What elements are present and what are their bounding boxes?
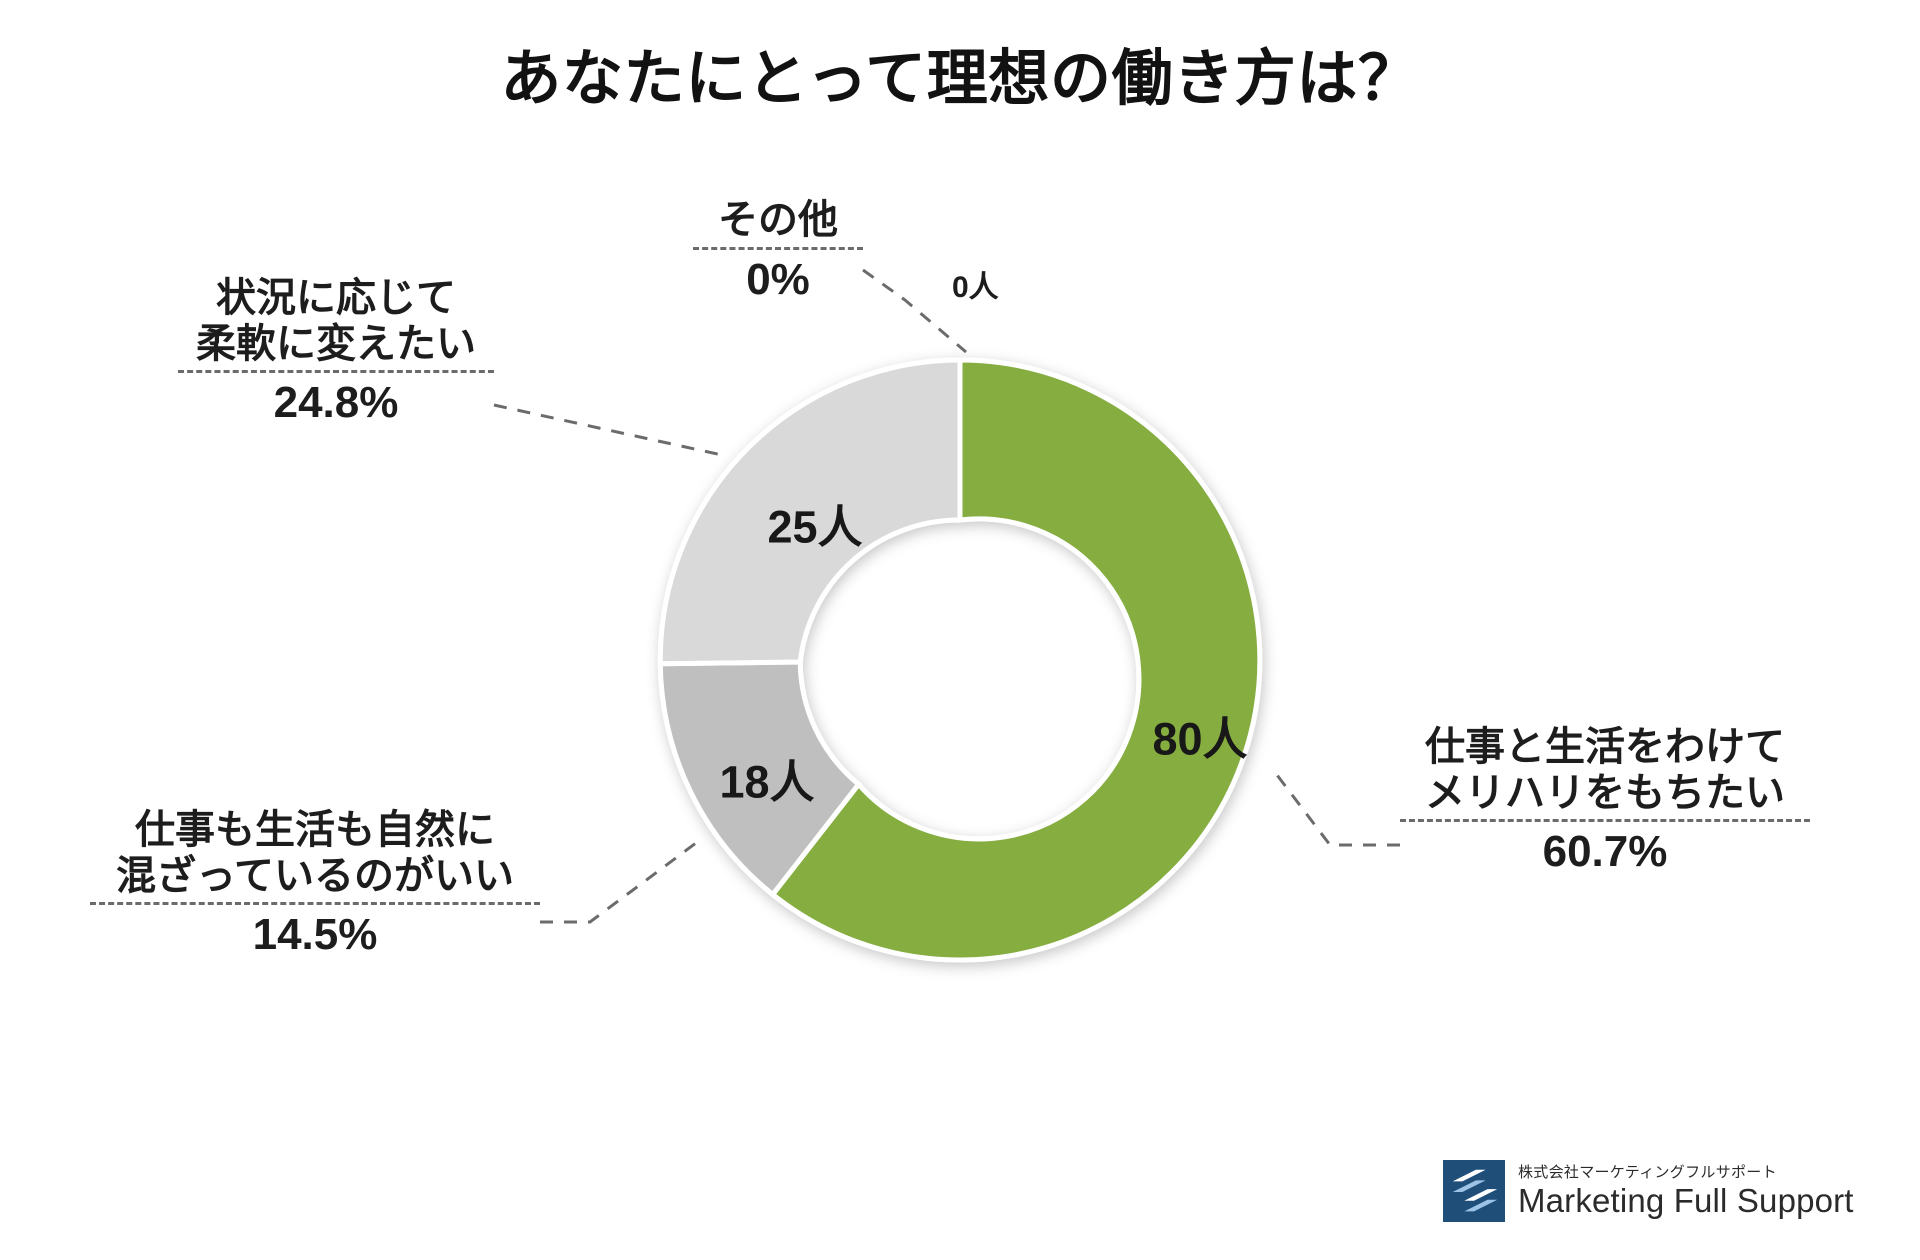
callout-flexible-label-line1: 状況に応じて [178, 276, 494, 322]
logo-text-block: 株式会社マーケティングフルサポート Marketing Full Support [1518, 1165, 1854, 1218]
leader-separated [1277, 775, 1400, 845]
callout-mixed-label-line2: 混ざっているのがいい [90, 854, 540, 900]
callout-flexible: 状況に応じて 柔軟に変えたい 24.8% [178, 276, 494, 429]
callout-other-count: 0人 [952, 262, 999, 306]
callout-mixed: 仕事も生活も自然に 混ざっているのがいい 14.5% [90, 808, 540, 961]
callout-other: その他 0% [693, 198, 863, 306]
slice-value-flexible: 25人 [767, 491, 862, 556]
page-title: あなたにとって理想の働き方は？ [0, 28, 1920, 117]
callout-other-label: その他 [693, 198, 863, 244]
callout-flexible-percent: 24.8% [178, 373, 494, 429]
donut-chart-svg [640, 340, 1280, 980]
slice-value-separated: 80人 [1152, 703, 1247, 768]
callout-mixed-label-line1: 仕事も生活も自然に [90, 808, 540, 854]
callout-other-percent: 0% [693, 250, 863, 306]
callout-separated-label-line1: 仕事と生活をわけて [1400, 725, 1810, 771]
callout-flexible-label-line2: 柔軟に変えたい [178, 322, 494, 368]
callout-separated: 仕事と生活をわけて メリハリをもちたい 60.7% [1400, 725, 1810, 878]
callout-separated-label-line2: メリハリをもちたい [1400, 771, 1810, 817]
company-logo: 株式会社マーケティングフルサポート Marketing Full Support [1443, 1160, 1854, 1222]
callout-mixed-percent: 14.5% [90, 905, 540, 961]
marketing-full-support-logo-icon [1443, 1160, 1505, 1222]
slice-value-mixed: 18人 [719, 746, 814, 811]
donut-chart [640, 340, 1280, 980]
logo-company-name-en: Marketing Full Support [1518, 1184, 1854, 1217]
callout-separated-percent: 60.7% [1400, 822, 1810, 878]
